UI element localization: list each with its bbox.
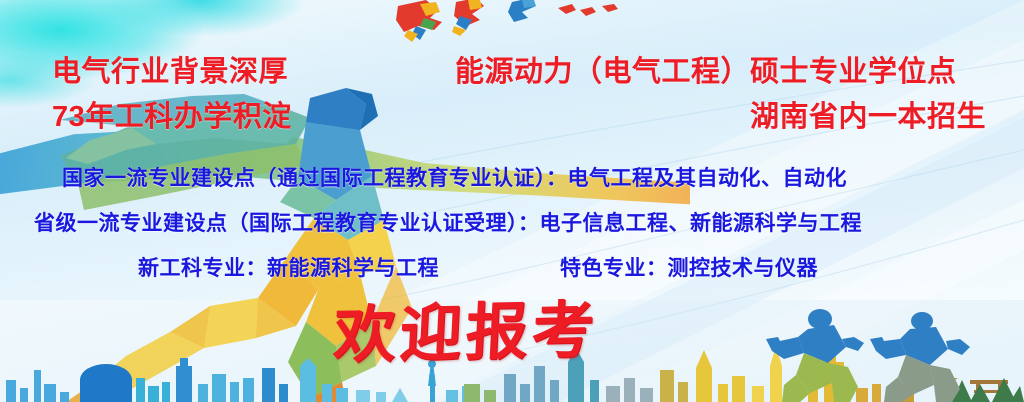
headline-left-line1: 电气行业背景深厚 <box>52 48 288 90</box>
slogan-welcome-apply: 欢迎报考 <box>332 279 601 375</box>
headline-right-line1: 能源动力（电气工程）硕士专业学位点 <box>455 48 957 90</box>
recruitment-banner: 电气行业背景深厚 73年工科办学积淀 能源动力（电气工程）硕士专业学位点 湖南省… <box>0 0 1024 402</box>
headline-left-line2: 73年工科办学积淀 <box>52 93 292 135</box>
running-athletes-figures <box>754 307 1014 402</box>
runners-svg <box>754 307 1014 402</box>
skier-figures-decoration <box>390 0 650 42</box>
program-line-national: 国家一流专业建设点（通过国际工程教育专业认证）：电气工程及其自动化、自动化 <box>62 162 847 192</box>
program-line-new-engineering: 新工科专业：新能源科学与工程 <box>138 252 439 282</box>
skiers-svg <box>390 0 650 42</box>
program-line-featured: 特色专业：测控技术与仪器 <box>560 252 818 282</box>
program-line-provincial: 省级一流专业建设点（国际工程教育专业认证受理）：电子信息工程、新能源科学与工程 <box>34 207 862 237</box>
headline-right-line2: 湖南省内一本招生 <box>750 93 986 135</box>
